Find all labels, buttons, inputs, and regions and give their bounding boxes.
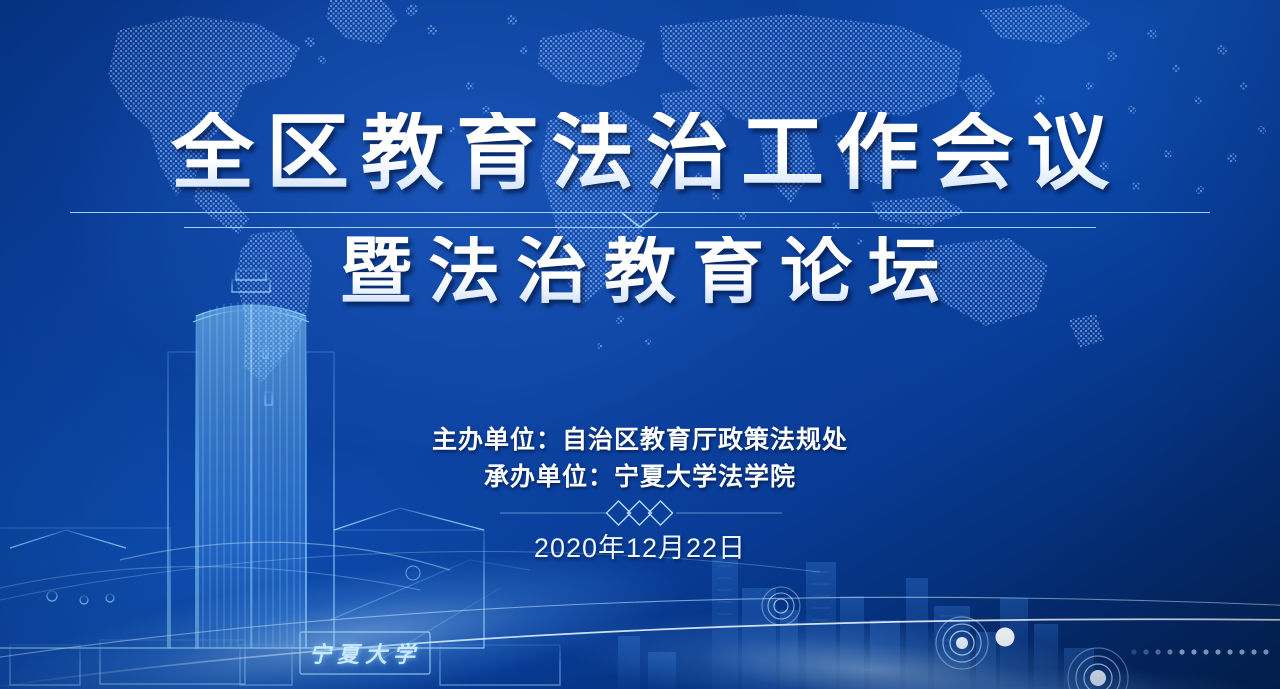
page-subtitle: 暨法治教育论坛 — [0, 236, 1280, 308]
page-title: 全区教育法治工作会议 — [0, 112, 1280, 195]
divider-line-lower — [184, 227, 1096, 228]
poster-text-content: 全区教育法治工作会议 暨法治教育论坛 主办单位：自治区教育厅政策法规处 承办单位… — [0, 0, 1280, 689]
organizer-block: 主办单位：自治区教育厅政策法规处 承办单位：宁夏大学法学院 — [0, 422, 1280, 496]
organizer-host: 主办单位：自治区教育厅政策法规处 — [0, 422, 1280, 459]
diamond-trio-ornament-icon — [0, 498, 1280, 528]
divider-line-upper — [70, 212, 1210, 213]
organizer-undertaker: 承办单位：宁夏大学法学院 — [0, 459, 1280, 496]
event-date: 2020年12月22日 — [0, 526, 1280, 565]
conference-poster: 宁夏大学 全区教育法治工作会议 暨法治教育论坛 主办单位：自治区教育厅政策法规处… — [0, 0, 1280, 689]
